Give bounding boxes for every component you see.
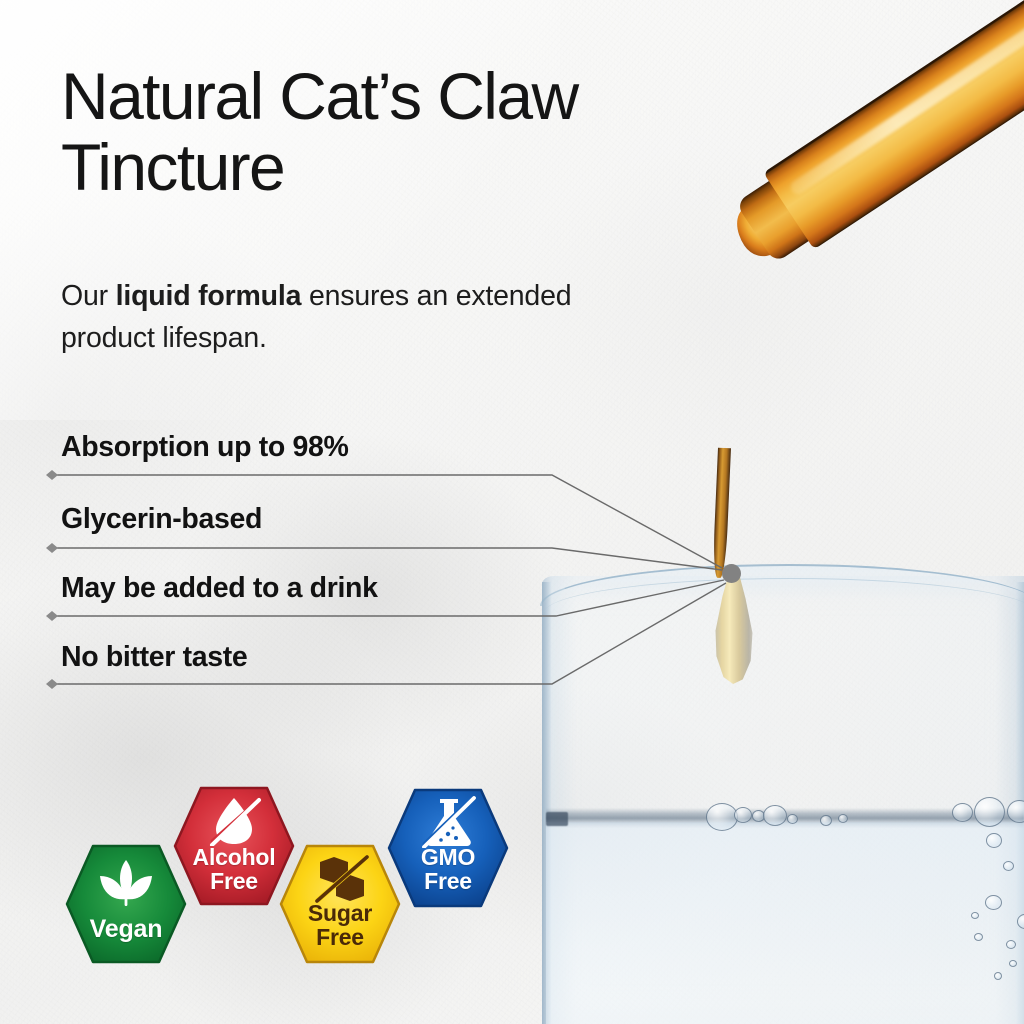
- feature-item-3: May be added to a drink: [61, 574, 378, 603]
- bubble: [787, 814, 798, 824]
- badge-sugar-free-line-2: Free: [274, 926, 406, 950]
- page-title-line-2: Tincture: [61, 132, 761, 203]
- feature-label-2: Glycerin-based: [61, 505, 262, 534]
- water-surface-shadow: [546, 812, 568, 826]
- glass-of-water: [520, 560, 1024, 1024]
- subtitle-emphasis: liquid formula: [116, 280, 302, 312]
- subtitle: Our liquid formula ensures an extended p…: [61, 275, 591, 359]
- bubble: [971, 912, 979, 919]
- flask-slash-icon: [382, 796, 514, 848]
- bubble: [838, 814, 848, 823]
- callout-convergence-dot: [722, 564, 741, 583]
- badge-gmo-free-label: GMO Free: [382, 846, 514, 894]
- badge-gmo-free: GMO Free: [382, 782, 514, 914]
- product-infographic: Natural Cat’s Claw Tincture Our liquid f…: [0, 0, 1024, 1024]
- feature-item-4: No bitter taste: [61, 643, 247, 672]
- feature-label-1: Absorption up to 98%: [61, 433, 349, 462]
- page-title-line-1: Natural Cat’s Claw: [61, 61, 761, 132]
- bubble: [974, 933, 983, 941]
- feature-item-1: Absorption up to 98%: [61, 433, 349, 462]
- bubble: [706, 803, 738, 831]
- badge-vegan-label: Vegan: [60, 916, 192, 942]
- bubble: [1006, 940, 1016, 949]
- bubble: [985, 895, 1002, 910]
- bubble: [952, 803, 973, 822]
- page-title: Natural Cat’s Claw Tincture: [61, 61, 761, 204]
- bubble: [974, 797, 1005, 827]
- feature-item-2: Glycerin-based: [61, 505, 262, 534]
- feature-label-3: May be added to a drink: [61, 574, 378, 603]
- badge-vegan-line-1: Vegan: [60, 916, 192, 942]
- bubble: [994, 972, 1002, 980]
- badge-gmo-free-line-1: GMO: [382, 846, 514, 870]
- bubble: [1009, 960, 1017, 967]
- water-body: [546, 822, 1024, 1024]
- badge-gmo-free-line-2: Free: [382, 870, 514, 894]
- bubble: [1003, 861, 1014, 871]
- bubble: [820, 815, 832, 826]
- subtitle-before: Our: [61, 280, 116, 312]
- bubble: [763, 805, 787, 826]
- bubble: [986, 833, 1002, 848]
- bubble: [734, 807, 752, 823]
- feature-label-4: No bitter taste: [61, 643, 247, 672]
